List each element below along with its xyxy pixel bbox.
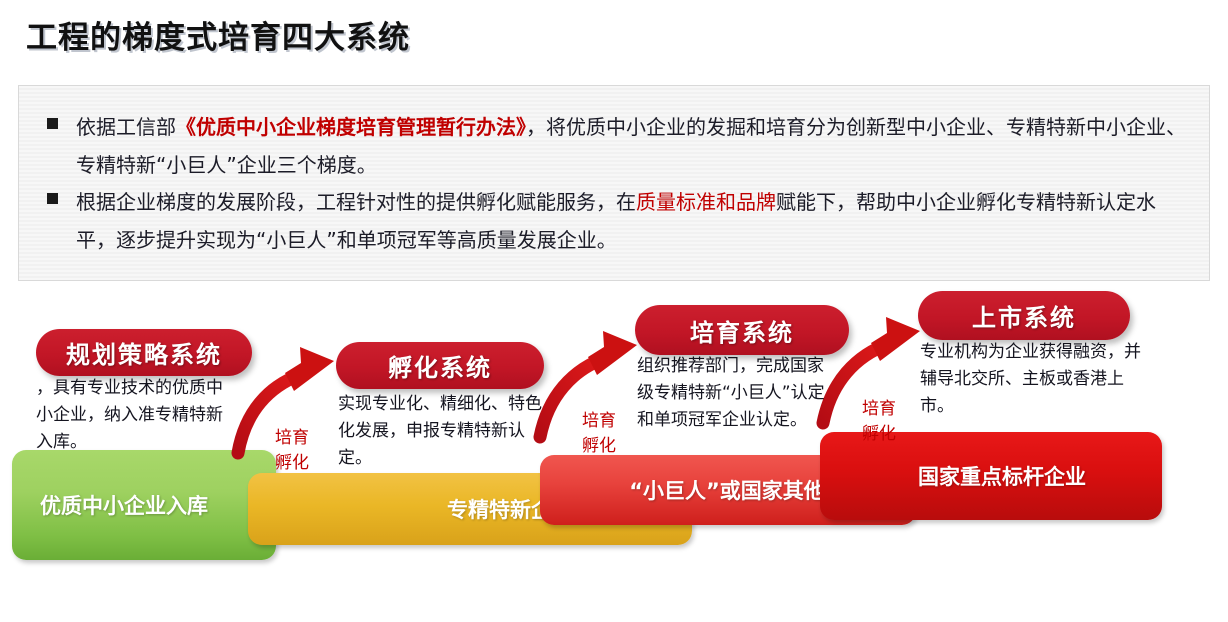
system-description-incubation: 实现专业化、精细化、特色化发展，申报专精特新认定。 (338, 391, 543, 472)
staircase-diagram: 优质中小企业入库 专精特新企业 “小巨人”或国家其他资质 国家重点标杆企业 (0, 281, 1228, 622)
bullet2-pre: 根据企业梯度的发展阶段，工程针对性的提供孵化赋能服务，在 (76, 190, 636, 214)
description-panel: 依据工信部《优质中小企业梯度培育管理暂行办法》，将优质中小企业的发掘和培育分为创… (18, 85, 1210, 281)
system-pill-planning[interactable]: 规划策略系统 (36, 329, 252, 376)
system-pill-cultivation[interactable]: 培育系统 (635, 305, 849, 355)
arrow-label-3: 培育 孵化 (855, 397, 903, 447)
page-title: 工程的梯度式培育四大系统 (26, 12, 410, 57)
system-pill-incubation[interactable]: 孵化系统 (336, 342, 544, 389)
arrow-label-3-line2: 孵化 (855, 422, 903, 447)
system-description-cultivation: 组织推荐部门，完成国家级专精特新“小巨人”认定和单项冠军企业认定。 (637, 353, 837, 434)
arrow-label-2: 培育 孵化 (575, 409, 623, 459)
arrow-label-3-line1: 培育 (855, 397, 903, 422)
arrow-label-2-line2: 孵化 (575, 434, 623, 459)
bullet2-highlight-quality: 质量标准和品牌 (636, 190, 776, 214)
arrow-label-1: 培育 孵化 (268, 426, 316, 476)
system-pill-listing[interactable]: 上市系统 (918, 291, 1130, 340)
arrow-label-1-line2: 孵化 (268, 451, 316, 476)
bullet-square-icon (47, 118, 58, 129)
bullet1-highlight-regulation: 《优质中小企业梯度培育管理暂行办法》 (176, 115, 526, 139)
system-description-planning: ，具有专业技术的优质中小企业，纳入准专精特新入库。 (36, 375, 236, 456)
bullet-item-2: 根据企业梯度的发展阶段，工程针对性的提供孵化赋能服务，在质量标准和品牌赋能下，帮… (47, 183, 1189, 259)
bullet-text-2: 根据企业梯度的发展阶段，工程针对性的提供孵化赋能服务，在质量标准和品牌赋能下，帮… (76, 183, 1189, 259)
system-description-listing: 专业机构为企业获得融资，并辅导北交所、主板或香港上市。 (920, 339, 1150, 420)
arrow-label-2-line1: 培育 (575, 409, 623, 434)
stage-bar-1-label: 优质中小企业入库 (12, 490, 276, 520)
bullet-square-icon (47, 193, 58, 204)
bullet1-pre: 依据工信部 (76, 115, 176, 139)
arrow-label-1-line1: 培育 (268, 426, 316, 451)
stage-bar-4-label: 国家重点标杆企业 (820, 461, 1162, 491)
bullet-text-1: 依据工信部《优质中小企业梯度培育管理暂行办法》，将优质中小企业的发掘和培育分为创… (76, 108, 1189, 184)
slide-root: 工程的梯度式培育四大系统 依据工信部《优质中小企业梯度培育管理暂行办法》，将优质… (0, 0, 1228, 622)
bullet-item-1: 依据工信部《优质中小企业梯度培育管理暂行办法》，将优质中小企业的发掘和培育分为创… (47, 108, 1189, 184)
stage-bar-1[interactable]: 优质中小企业入库 (12, 450, 276, 560)
